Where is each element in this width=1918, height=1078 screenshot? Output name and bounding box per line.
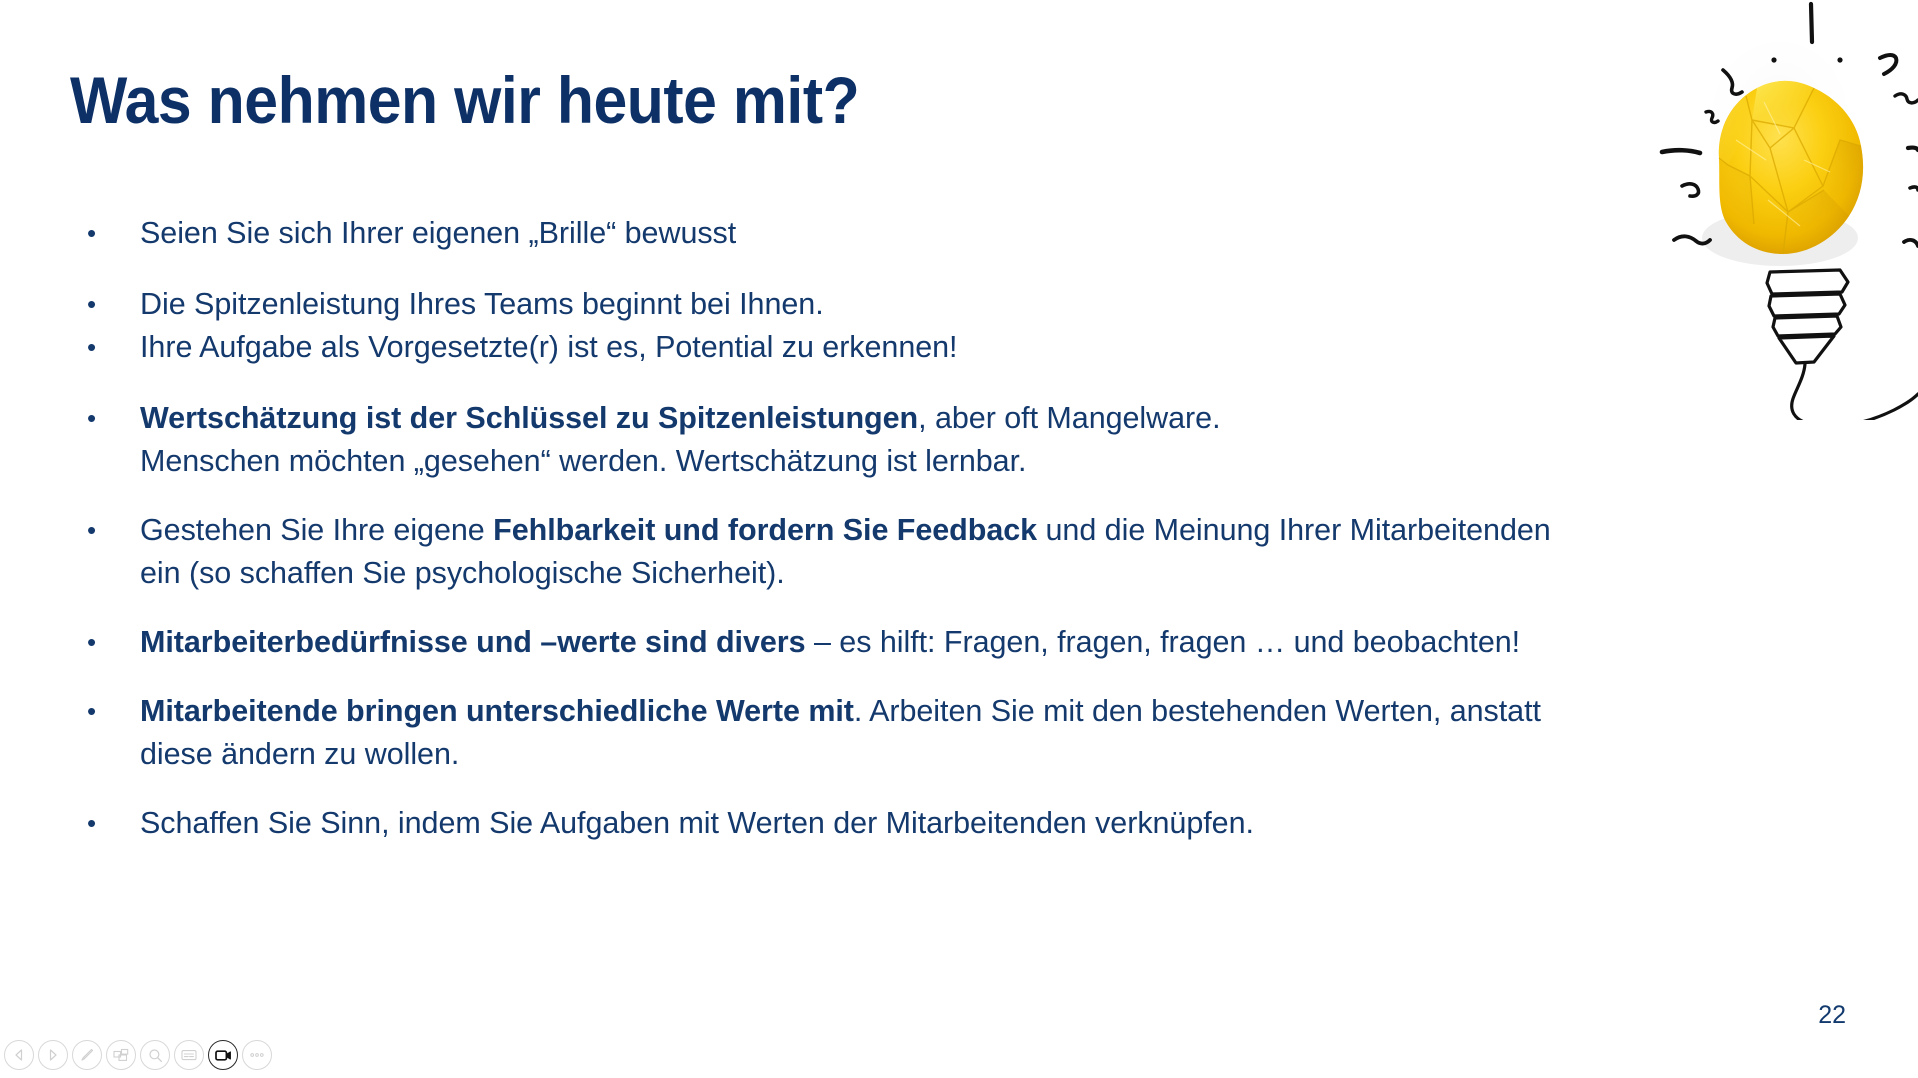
list-item: • Gestehen Sie Ihre eigene Fehlbarkeit u…: [78, 509, 1768, 595]
next-slide-icon: [46, 1048, 60, 1062]
bullet-marker-icon: •: [78, 326, 140, 369]
list-item: • Die Spitzenleistung Ihres Teams beginn…: [78, 283, 1768, 326]
next-slide-button[interactable]: [38, 1040, 68, 1070]
page-title: Was nehmen wir heute mit?: [70, 62, 859, 138]
bullet-text-spitzenleistung: Die Spitzenleistung Ihres Teams beginnt …: [140, 283, 1768, 326]
list-item: • Schaffen Sie Sinn, indem Sie Aufgaben …: [78, 802, 1768, 845]
list-item: • Seien Sie sich Ihrer eigenen „Brille“ …: [78, 212, 1768, 255]
camera-button[interactable]: [208, 1040, 238, 1070]
bullet-list: • Seien Sie sich Ihrer eigenen „Brille“ …: [78, 212, 1768, 845]
bullet-marker-icon: •: [78, 283, 140, 326]
spacer: [78, 664, 1768, 690]
bullet-marker-icon: •: [78, 621, 140, 664]
list-item: • Mitarbeitende bringen unterschiedliche…: [78, 690, 1768, 776]
bullet-marker-icon: •: [78, 397, 140, 440]
zoom-button[interactable]: [140, 1040, 170, 1070]
subtitles-button[interactable]: [174, 1040, 204, 1070]
bullet-marker-icon: •: [78, 802, 140, 845]
previous-slide-icon: [12, 1048, 26, 1062]
pen-icon: [79, 1047, 95, 1063]
all-slides-button[interactable]: [106, 1040, 136, 1070]
bullet-text-wertschaetzung: Wertschätzung ist der Schlüssel zu Spitz…: [140, 397, 1768, 483]
bullet-text-aufgabe-vorgesetzte: Ihre Aufgabe als Vorgesetzte(r) ist es, …: [140, 326, 1768, 369]
more-options-icon: [249, 1052, 265, 1058]
bullet-text-sinn-schaffen: Schaffen Sie Sinn, indem Sie Aufgaben mi…: [140, 802, 1768, 845]
slide-page-number: 22: [1818, 1001, 1846, 1030]
subtitles-icon: [181, 1049, 197, 1061]
pen-tool-button[interactable]: [72, 1040, 102, 1070]
spacer: [78, 483, 1768, 509]
bullet-text-werte-mit: Mitarbeitende bringen unterschiedliche W…: [140, 690, 1768, 776]
list-item: • Mitarbeiterbedürfnisse und –werte sind…: [78, 621, 1768, 664]
spacer: [78, 369, 1768, 397]
magnifier-icon: [148, 1048, 163, 1063]
bullet-marker-icon: •: [78, 509, 140, 552]
bullet-text-brille: Seien Sie sich Ihrer eigenen „Brille“ be…: [140, 212, 1768, 255]
more-options-button[interactable]: [242, 1040, 272, 1070]
spacer: [78, 255, 1768, 283]
presentation-slide: Was nehmen wir heute mit? • Seien Sie si…: [0, 0, 1918, 1078]
bullet-marker-icon: •: [78, 212, 140, 255]
list-item: • Ihre Aufgabe als Vorgesetzte(r) ist es…: [78, 326, 1768, 369]
bullet-text-fehlbarkeit: Gestehen Sie Ihre eigene Fehlbarkeit und…: [140, 509, 1768, 595]
spacer: [78, 776, 1768, 802]
presentation-toolbar[interactable]: [4, 1040, 272, 1070]
previous-slide-button[interactable]: [4, 1040, 34, 1070]
slide-grid-icon: [113, 1048, 129, 1062]
list-item: • Wertschätzung ist der Schlüssel zu Spi…: [78, 397, 1768, 483]
bullet-text-beduerfnisse-divers: Mitarbeiterbedürfnisse und –werte sind d…: [140, 621, 1768, 664]
bullet-marker-icon: •: [78, 690, 140, 733]
spacer: [78, 595, 1768, 621]
camera-icon: [215, 1049, 232, 1062]
